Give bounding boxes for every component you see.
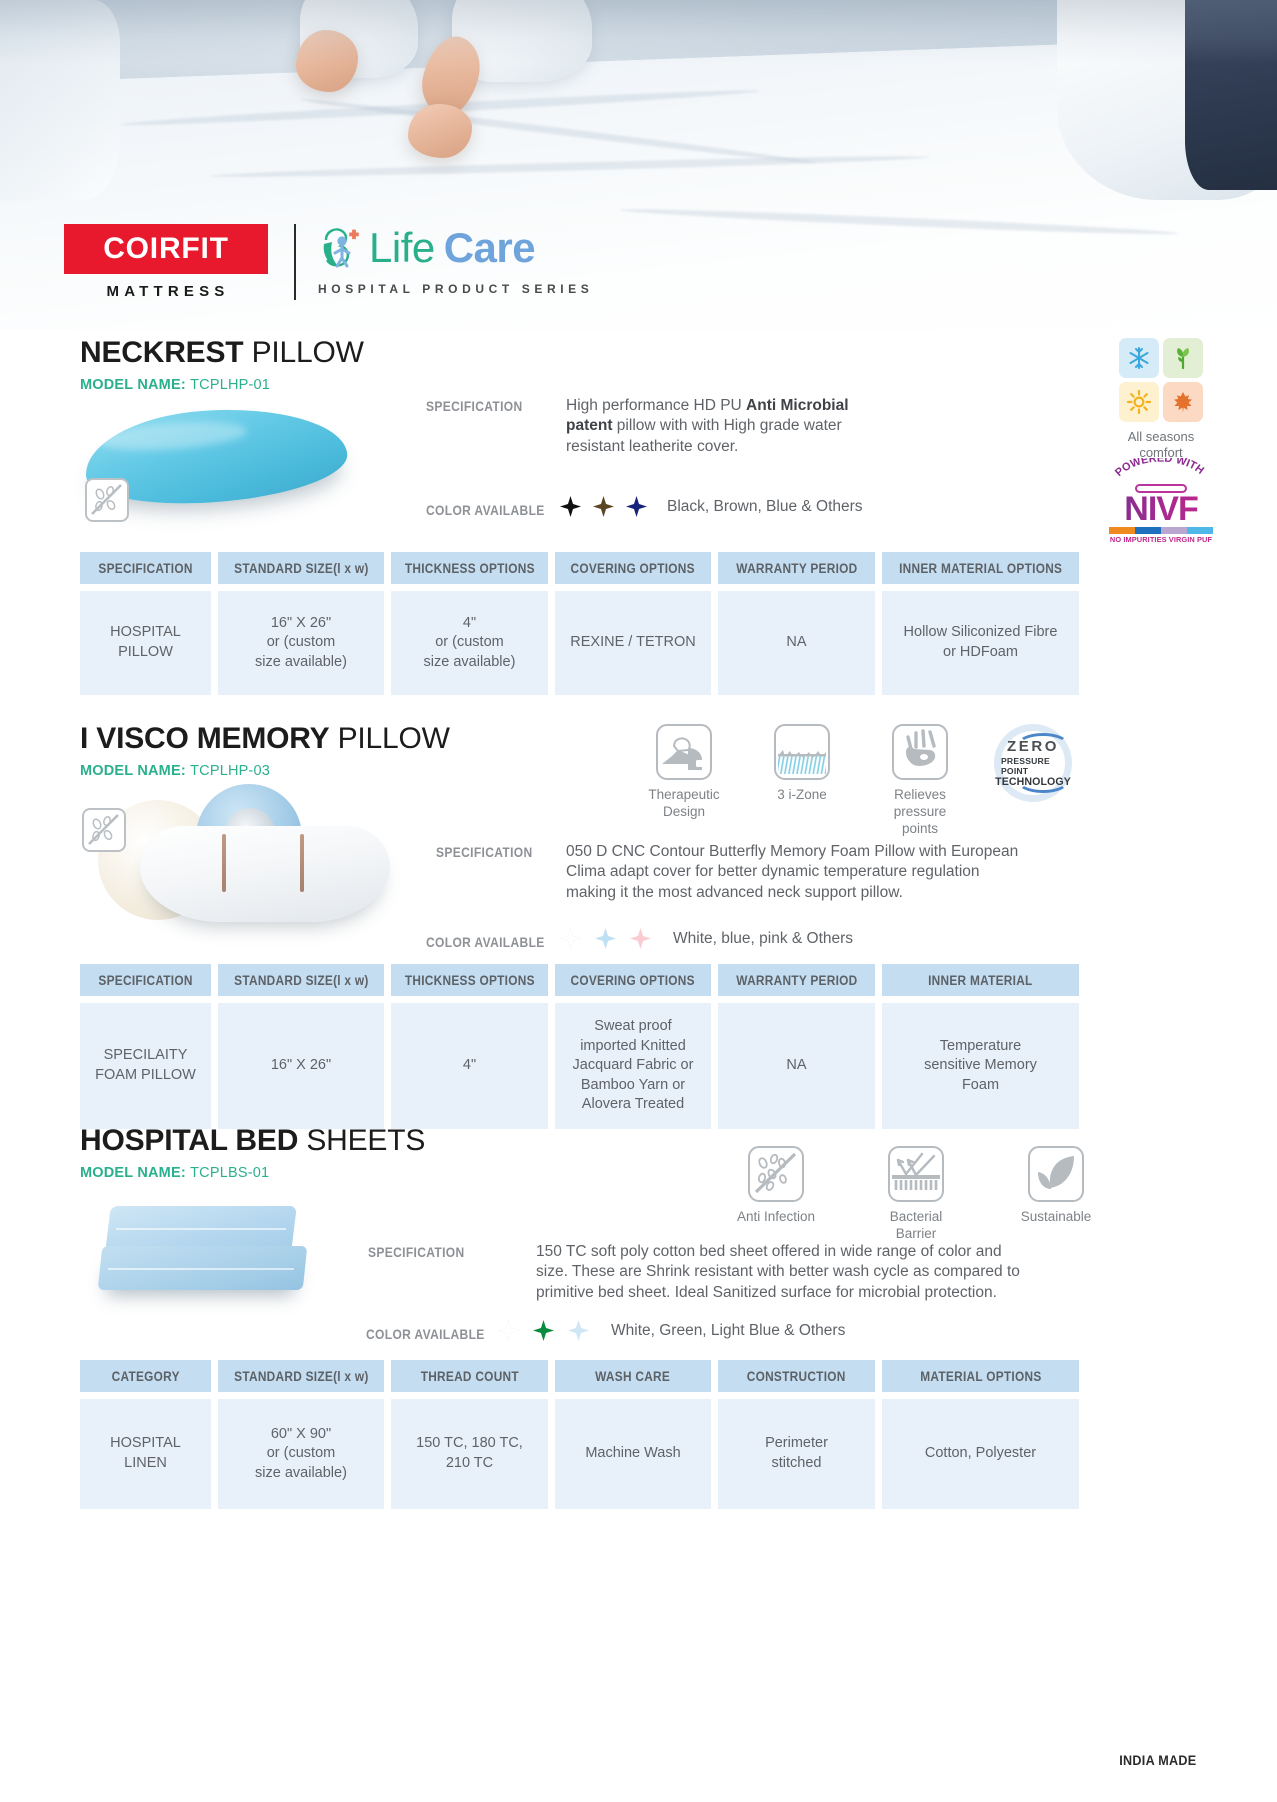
visco-contour-line xyxy=(300,834,304,892)
table-header-cell: THICKNESS OPTIONS xyxy=(391,964,548,996)
table-cell: Temperaturesensitive MemoryFoam xyxy=(882,1003,1079,1129)
product-photo-bedsheets xyxy=(100,1206,310,1298)
th-text: MATERIAL OPTIONS xyxy=(920,1369,1041,1384)
table-cell: Sweat proofimported KnittedJacquard Fabr… xyxy=(555,1003,711,1129)
catalog-page: COIRFIT MATTRESS Life Care HO xyxy=(0,0,1277,1802)
model-name-code: TCPLBS-01 xyxy=(190,1165,269,1181)
swatch-white xyxy=(560,928,581,949)
swatch-white xyxy=(498,1320,519,1341)
table-cell: NA xyxy=(718,1003,875,1129)
product-photo-visco-pillow xyxy=(140,826,400,936)
lifecare-care-text: Care xyxy=(444,227,535,269)
table-header-cell: STANDARD SIZE(l x w) xyxy=(218,552,384,584)
spec-text-neckrest: High performance HD PU Anti Microbial pa… xyxy=(566,396,866,457)
lifecare-life-text: Life xyxy=(369,227,435,269)
feature-sustainable: Sustainable xyxy=(1008,1146,1104,1243)
nivf-footer-text: NO IMPURITIES VIRGIN PUF xyxy=(1109,535,1213,544)
model-name-label: MODEL NAME: xyxy=(80,1165,186,1181)
th-text: SPECIFICATION xyxy=(98,973,192,988)
th-text: STANDARD SIZE(l x w) xyxy=(234,561,368,576)
model-name-code: TCPLHP-01 xyxy=(190,377,270,393)
india-made-footer: INDIA MADE xyxy=(1115,1752,1201,1768)
svg-text:POWERED WITH: POWERED WITH xyxy=(1113,458,1206,479)
product-title-light: PILLOW xyxy=(252,336,364,369)
bedsheet-crease xyxy=(108,1268,294,1270)
zero-line1: PRESSURE POINT xyxy=(1001,756,1065,776)
th-text: CONSTRUCTION xyxy=(747,1369,846,1384)
anti-infection-icon xyxy=(85,478,129,522)
table-cell: HOSPITAL LINEN xyxy=(80,1399,211,1509)
table-row: HOSPITAL PILLOW 16" X 26"or (customsize … xyxy=(80,591,1198,695)
table-header-cell: THICKNESS OPTIONS xyxy=(391,552,548,584)
lifecare-logo: Life Care HOSPITAL PRODUCT SERIES xyxy=(318,224,593,296)
feature-caption: 3 i-Zone xyxy=(777,787,827,804)
table-cell: 16" X 26" xyxy=(218,1003,384,1129)
swatch-blue xyxy=(595,928,616,949)
page-title-bedsheets: HOSPITAL BED SHEETS xyxy=(80,1124,425,1158)
visco-contour-line xyxy=(222,834,226,892)
table-header-cell: COVERING OPTIONS xyxy=(555,964,711,996)
model-name-label: MODEL NAME: xyxy=(80,763,186,779)
hero-top-shadow xyxy=(0,0,1277,64)
table-cell: HOSPITAL PILLOW xyxy=(80,591,211,695)
color-swatches-bedsheets: White, Green, Light Blue & Others xyxy=(498,1320,845,1341)
nivf-badge: POWERED WITH NIVF NO IMPURITIES VIRGIN P… xyxy=(1109,458,1213,544)
table-cell: REXINE / TETRON xyxy=(555,591,711,695)
table-header-cell: CATEGORY xyxy=(80,1360,211,1392)
color-swatches-neckrest: Black, Brown, Blue & Others xyxy=(560,496,863,517)
table-cell: Cotton, Polyester xyxy=(882,1399,1079,1509)
spec-label: SPECIFICATION xyxy=(426,398,523,414)
th-text: INNER MATERIAL OPTIONS xyxy=(899,561,1062,576)
swatch-blue xyxy=(626,496,647,517)
swatch-light-blue xyxy=(568,1320,589,1341)
table-cell: 4" xyxy=(391,1003,548,1129)
table-header-cell: SPECIFICATION xyxy=(80,552,211,584)
table-header-row: SPECIFICATION STANDARD SIZE(l x w) THICK… xyxy=(80,552,1198,584)
feature-icons-bedsheets: Anti Infection xyxy=(728,1146,1104,1243)
feature-caption: Anti Infection xyxy=(737,1209,815,1226)
color-text-neckrest: Black, Brown, Blue & Others xyxy=(667,498,863,516)
zero-wordmark: ZERO xyxy=(1007,739,1059,754)
th-text: THREAD COUNT xyxy=(420,1369,518,1384)
table-header-cell: INNER MATERIAL OPTIONS xyxy=(882,552,1079,584)
spec-label: SPECIFICATION xyxy=(368,1244,465,1260)
product-title-bold: NECKREST xyxy=(80,336,243,369)
leaf-sprout-icon xyxy=(1163,338,1203,378)
table-header-cell: THREAD COUNT xyxy=(391,1360,548,1392)
th-text: STANDARD SIZE(l x w) xyxy=(234,973,368,988)
table-cell: 60" X 90"or (customsize available) xyxy=(218,1399,384,1509)
table-header-cell: SPECIFICATION xyxy=(80,964,211,996)
coirfit-logo: COIRFIT MATTRESS xyxy=(64,224,268,300)
table-header-cell: WARRANTY PERIOD xyxy=(718,552,875,584)
nivf-color-bars xyxy=(1109,527,1213,534)
spec-label: SPECIFICATION xyxy=(436,844,533,860)
feature-icons-ivisco: TherapeuticDesign 3 i-Zone xyxy=(636,724,1072,838)
swatch-pink xyxy=(630,928,651,949)
product-title-light: PILLOW xyxy=(338,722,450,755)
coirfit-badge: COIRFIT xyxy=(64,224,268,274)
model-name-neckrest: MODEL NAME: TCPLHP-01 xyxy=(80,377,364,393)
feature-anti-infection: Anti Infection xyxy=(728,1146,824,1243)
anti-infection-icon xyxy=(748,1146,804,1202)
sun-icon xyxy=(1119,382,1159,422)
feature-bacterial-barrier: BacterialBarrier xyxy=(868,1146,964,1243)
color-available-label: COLOR AVAILABLE xyxy=(426,502,545,518)
product-title-bold: I VISCO MEMORY xyxy=(80,722,329,755)
th-text: COVERING OPTIONS xyxy=(571,973,695,988)
feature-caption: TherapeuticDesign xyxy=(648,787,719,821)
th-text: WASH CARE xyxy=(596,1369,671,1384)
table-header-cell: WARRANTY PERIOD xyxy=(718,964,875,996)
table-header-cell: STANDARD SIZE(l x w) xyxy=(218,1360,384,1392)
feature-caption: Relieves pressurepoints xyxy=(872,787,968,838)
th-text: STANDARD SIZE(l x w) xyxy=(234,1369,368,1384)
color-text-ivisco: White, blue, pink & Others xyxy=(673,930,853,948)
table-cell: 16" X 26"or (customsize available) xyxy=(218,591,384,695)
three-i-zone-icon xyxy=(774,724,830,780)
feature-caption: BacterialBarrier xyxy=(890,1209,943,1243)
table-header-row: SPECIFICATION STANDARD SIZE(l x w) THICK… xyxy=(80,964,1198,996)
page-title-ivisco: I VISCO MEMORY PILLOW xyxy=(80,722,450,756)
india-made-text: INDIA MADE xyxy=(1120,1752,1197,1768)
spec-table-bedsheets: CATEGORY STANDARD SIZE(l x w) THREAD COU… xyxy=(80,1360,1198,1509)
color-available-label: COLOR AVAILABLE xyxy=(426,934,545,950)
swatch-black xyxy=(560,496,581,517)
table-header-cell: MATERIAL OPTIONS xyxy=(882,1360,1079,1392)
th-text: INNER MATERIAL xyxy=(928,973,1032,988)
bedsheet-stack-image xyxy=(100,1206,310,1298)
product-section-neckrest: NECKREST PILLOW MODEL NAME: TCPLHP-01 SP… xyxy=(0,336,1277,692)
lifecare-tagline: HOSPITAL PRODUCT SERIES xyxy=(318,282,593,296)
feature-three-i-zone: 3 i-Zone xyxy=(754,724,850,804)
th-text: COVERING OPTIONS xyxy=(571,561,695,576)
spec-text-ivisco: 050 D CNC Contour Butterfly Memory Foam … xyxy=(566,842,1026,903)
model-name-ivisco: MODEL NAME: TCPLHP-03 xyxy=(80,763,450,779)
nivf-arc-text: POWERED WITH xyxy=(1109,458,1213,484)
snowflake-icon xyxy=(1119,338,1159,378)
nivf-wordmark: NIVF xyxy=(1109,494,1213,525)
th-text: CATEGORY xyxy=(111,1369,179,1384)
th-text: WARRANTY PERIOD xyxy=(736,973,857,988)
page-title-neckrest: NECKREST PILLOW xyxy=(80,336,364,370)
feature-caption: Sustainable xyxy=(1021,1209,1092,1226)
th-text: WARRANTY PERIOD xyxy=(736,561,857,576)
model-name-bedsheets: MODEL NAME: TCPLBS-01 xyxy=(80,1165,425,1181)
product-title-light: SHEETS xyxy=(306,1124,425,1157)
product-section-ivisco: I VISCO MEMORY PILLOW MODEL NAME: TCPLHP… xyxy=(0,722,1277,1114)
therapeutic-design-icon xyxy=(656,724,712,780)
spec-table-neckrest: SPECIFICATION STANDARD SIZE(l x w) THICK… xyxy=(80,552,1198,695)
product-section-bedsheets: HOSPITAL BED SHEETS MODEL NAME: TCPLBS-0… xyxy=(0,1124,1277,1524)
logo-divider xyxy=(294,224,296,300)
swatch-brown xyxy=(593,496,614,517)
spec-text-bold-2: patent xyxy=(566,417,613,434)
anti-infection-icon xyxy=(82,808,126,852)
th-text: SPECIFICATION xyxy=(98,561,192,576)
brand-logo-bar: COIRFIT MATTRESS Life Care HO xyxy=(64,224,593,300)
hero-hand-right xyxy=(408,104,472,158)
table-header-cell: INNER MATERIAL xyxy=(882,964,1079,996)
th-text: THICKNESS OPTIONS xyxy=(405,973,535,988)
table-cell: SPECILAITY FOAM PILLOW xyxy=(80,1003,211,1129)
table-cell: NA xyxy=(718,591,875,695)
spec-text-bold: Anti Microbial xyxy=(746,397,848,414)
feature-relieves-pressure: Relieves pressurepoints xyxy=(872,724,968,838)
spec-text-bedsheets: 150 TC soft poly cotton bed sheet offere… xyxy=(536,1242,1028,1303)
table-cell: Hollow Siliconized Fibreor HDFoam xyxy=(882,591,1079,695)
bedsheet-crease xyxy=(116,1228,286,1230)
table-header-cell: COVERING OPTIONS xyxy=(555,552,711,584)
sustainable-icon xyxy=(1028,1146,1084,1202)
coirfit-tagline: MATTRESS xyxy=(64,283,268,300)
table-header-row: CATEGORY STANDARD SIZE(l x w) THREAD COU… xyxy=(80,1360,1198,1392)
table-cell: 4"or (customsize available) xyxy=(391,591,548,695)
spec-text-part: High performance HD PU xyxy=(566,397,746,414)
color-swatches-ivisco: White, blue, pink & Others xyxy=(560,928,853,949)
coirfit-wordmark: COIRFIT xyxy=(103,232,229,266)
product-title-bold: HOSPITAL BED xyxy=(80,1124,298,1157)
th-text: THICKNESS OPTIONS xyxy=(405,561,535,576)
all-seasons-badge: All seasonscomfort xyxy=(1119,338,1203,462)
zero-line2: TECHNOLOGY xyxy=(995,776,1071,788)
color-text-bedsheets: White, Green, Light Blue & Others xyxy=(611,1322,845,1340)
model-name-code: TCPLHP-03 xyxy=(190,763,270,779)
model-name-label: MODEL NAME: xyxy=(80,377,186,393)
all-seasons-caption: All seasonscomfort xyxy=(1119,429,1203,462)
feature-therapeutic-design: TherapeuticDesign xyxy=(636,724,732,821)
table-header-cell: WASH CARE xyxy=(555,1360,711,1392)
table-row: SPECILAITY FOAM PILLOW 16" X 26" 4" Swea… xyxy=(80,1003,1198,1129)
zero-pressure-point-badge: ZERO PRESSURE POINT TECHNOLOGY xyxy=(994,724,1072,802)
table-cell: Perimeterstitched xyxy=(718,1399,875,1509)
visco-pillow-image xyxy=(140,826,390,922)
table-header-cell: STANDARD SIZE(l x w) xyxy=(218,964,384,996)
table-header-cell: CONSTRUCTION xyxy=(718,1360,875,1392)
swatch-green xyxy=(533,1320,554,1341)
bacterial-barrier-icon xyxy=(888,1146,944,1202)
maple-leaf-icon xyxy=(1163,382,1203,422)
relieves-pressure-points-icon xyxy=(892,724,948,780)
spec-table-ivisco: SPECIFICATION STANDARD SIZE(l x w) THICK… xyxy=(80,964,1198,1129)
table-cell: 150 TC, 180 TC,210 TC xyxy=(391,1399,548,1509)
table-cell: Machine Wash xyxy=(555,1399,711,1509)
lifecare-figure-icon xyxy=(318,226,362,270)
table-row: HOSPITAL LINEN 60" X 90"or (customsize a… xyxy=(80,1399,1198,1509)
color-available-label: COLOR AVAILABLE xyxy=(366,1326,485,1342)
